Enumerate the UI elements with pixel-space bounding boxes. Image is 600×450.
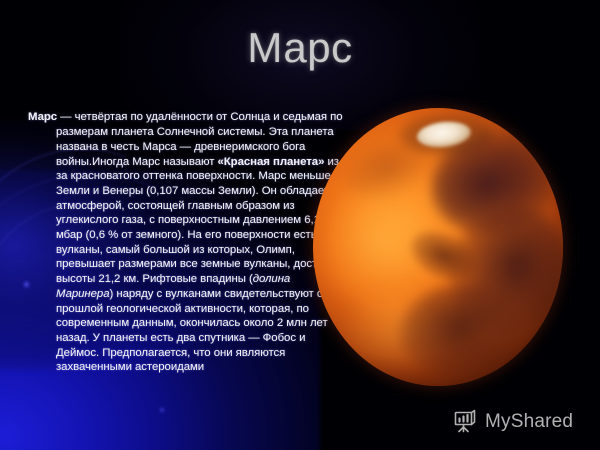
planet-limb-shadow — [313, 108, 563, 386]
body-emphasis-red-planet: «Красная планета» — [218, 156, 325, 168]
presentation-chart-icon — [452, 408, 478, 434]
slide-title: Марс — [0, 24, 600, 72]
body-lead-bold: Марс — [28, 111, 57, 123]
slide-body-text: Марс — четвёртая по удалённости от Солнц… — [28, 110, 348, 375]
background-light-speck — [160, 408, 164, 412]
presentation-slide: Марс Марс — четвёртая по удалённости от … — [0, 0, 600, 450]
myshared-watermark-label: MyShared — [485, 412, 573, 431]
myshared-watermark: MyShared — [452, 408, 573, 434]
body-part-3: ) наряду с вулканами свидетельствуют о п… — [56, 288, 328, 374]
mars-planet-image — [313, 108, 563, 386]
planet-disc — [313, 108, 563, 386]
body-part-2: из-за красноватого оттенка поверхности. … — [56, 156, 343, 286]
